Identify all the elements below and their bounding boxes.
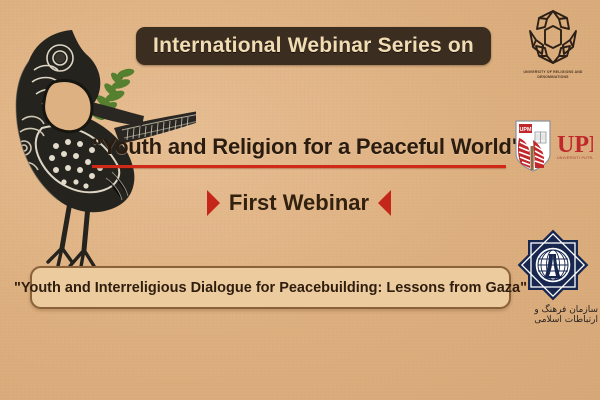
logo-caption-urd: UNIVERSITY OF RELIGIONS AND DENOMINATION… [523,70,582,80]
header-ribbon-text: International Webinar Series on [153,34,474,58]
interlocking-hands-icon [523,6,583,68]
logo-caption-icro: سازمان فرهنگ و ارتباطات اسلامی [508,305,598,325]
svg-text:UNIVERSITI PUTRA MALAYSIA: UNIVERSITI PUTRA MALAYSIA [557,156,593,160]
webinar-poster: International Webinar Series on "Youth a… [0,0,600,400]
logo-caption-urd-line2: DENOMINATIONS [523,75,582,80]
upm-crest-icon: UPM [513,118,593,174]
logo-universiti-putra-malaysia: UPM [512,118,594,174]
arrow-right-icon [207,190,220,216]
session-label-row: First Webinar [92,190,506,216]
subtitle-box: "Youth and Interreligious Dialogue for P… [30,266,511,309]
logo-islamic-culture-and-relations-organization: سازمان فرهنگ و ارتباطات اسلامی [508,228,598,325]
title-underline-rule [92,165,506,168]
upm-wordmark: UPM [557,132,593,158]
session-label: First Webinar [229,190,369,216]
svg-text:UPM: UPM [520,127,532,133]
header-ribbon: International Webinar Series on [136,27,491,65]
main-title-block: "Youth and Religion for a Peaceful World… [92,134,506,168]
subtitle-text: "Youth and Interreligious Dialogue for P… [14,280,527,296]
logo-university-of-religions-and-denominations: UNIVERSITY OF RELIGIONS AND DENOMINATION… [512,6,594,80]
globe-star-emblem-icon [516,228,590,302]
arrow-left-icon [378,190,391,216]
page-title: "Youth and Religion for a Peaceful World… [92,134,506,160]
